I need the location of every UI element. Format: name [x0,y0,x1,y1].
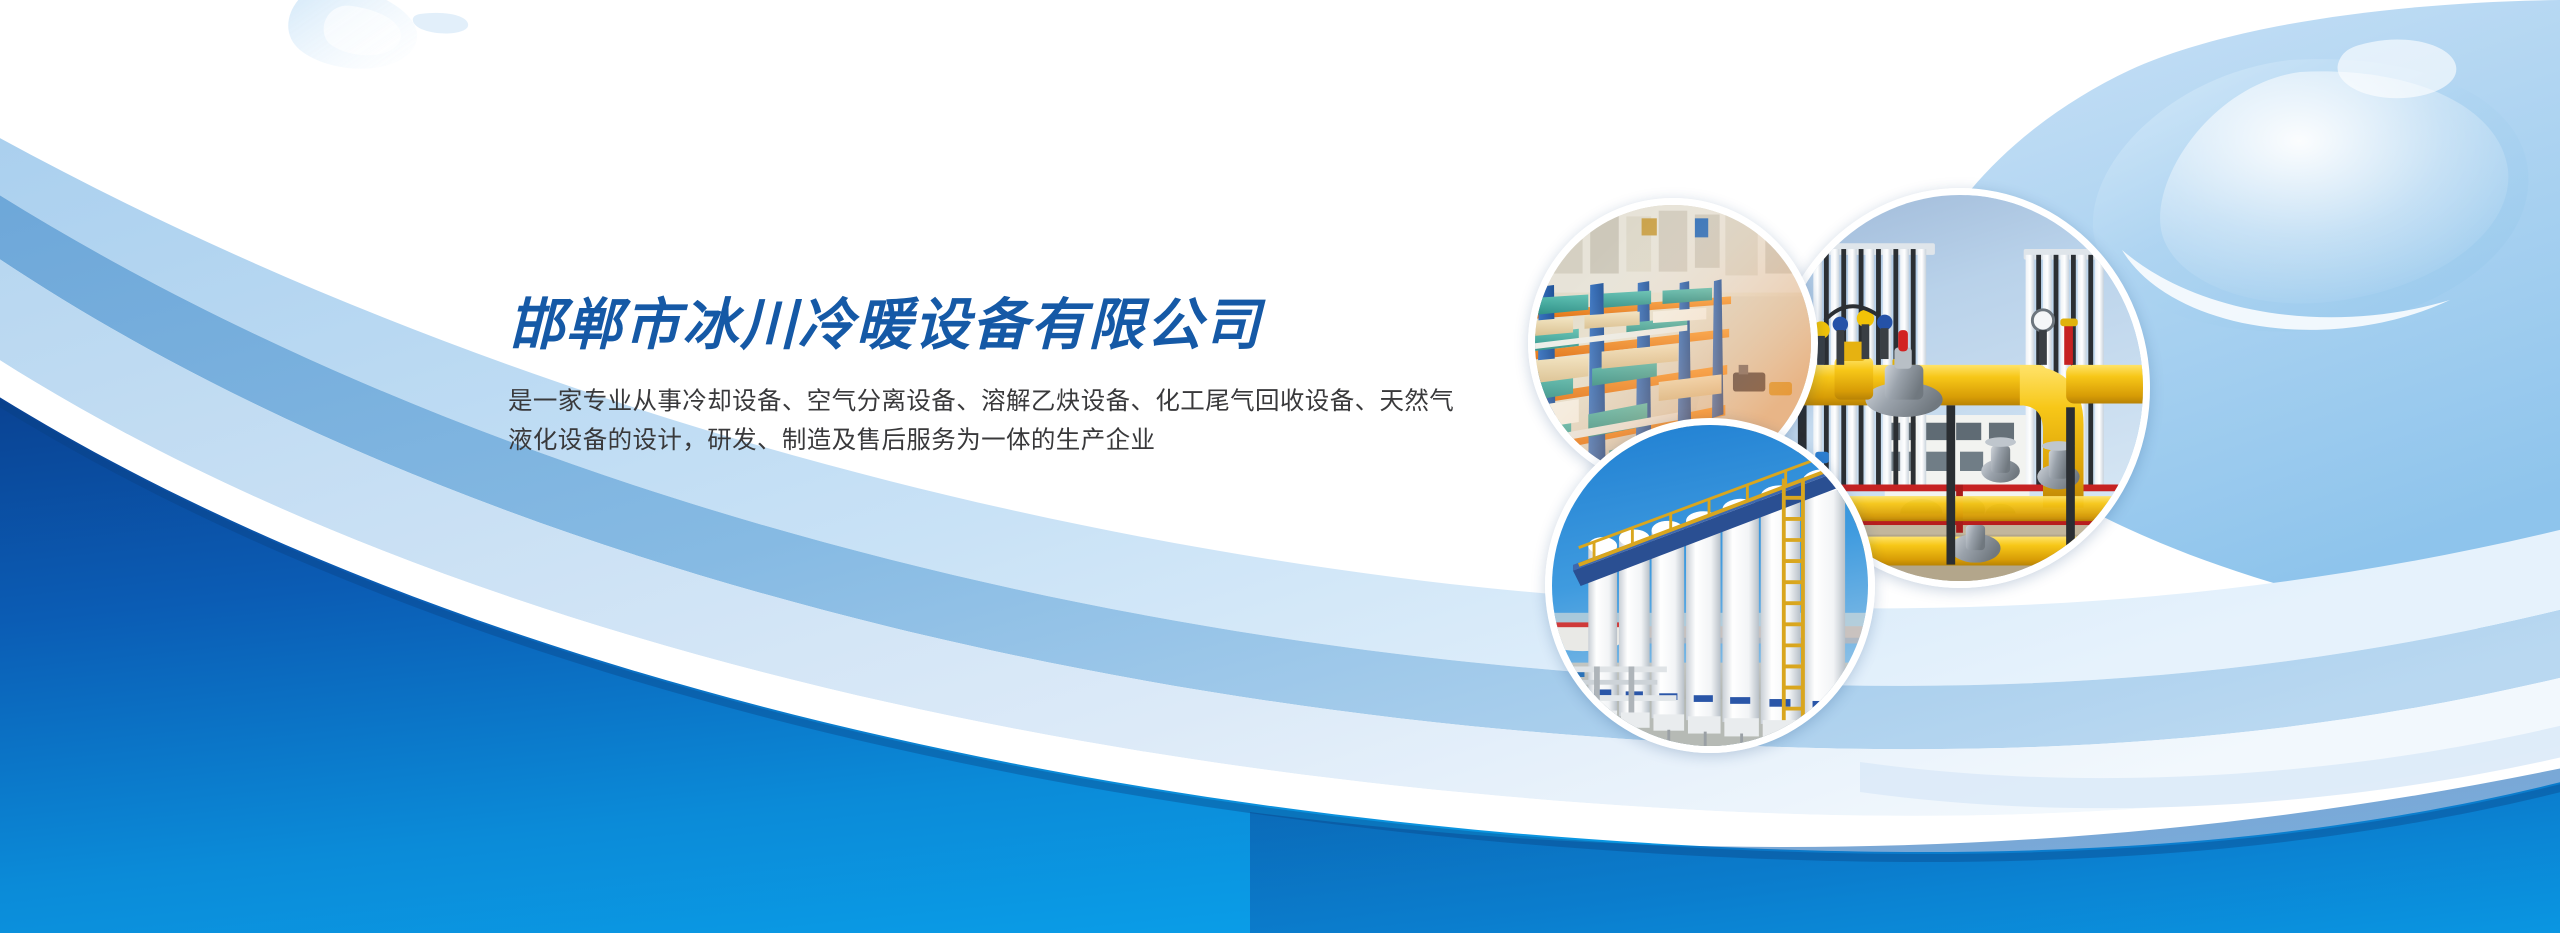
page-title: 邯郸市冰川冷暖设备有限公司 [508,296,1508,355]
background-wave-graphic [0,0,2560,933]
description-line-1: 是一家专业从事冷却设备、空气分离设备、溶解乙炔设备、化工尾气回收设备、天然气 [508,381,1498,421]
photo-cryogenic-storage-tanks [1545,418,1875,753]
description-line-2: 液化设备的设计，研发、制造及售后服务为一体的生产企业 [508,420,1498,460]
hero-text-block: 邯郸市冰川冷暖设备有限公司 是一家专业从事冷却设备、空气分离设备、溶解乙炔设备、… [508,296,1508,460]
company-hero-banner: 邯郸市冰川冷暖设备有限公司 是一家专业从事冷却设备、空气分离设备、溶解乙炔设备、… [0,0,2560,933]
company-description: 是一家专业从事冷却设备、空气分离设备、溶解乙炔设备、化工尾气回收设备、天然气 液… [508,381,1498,460]
storage-tank-photo [1552,425,1868,746]
